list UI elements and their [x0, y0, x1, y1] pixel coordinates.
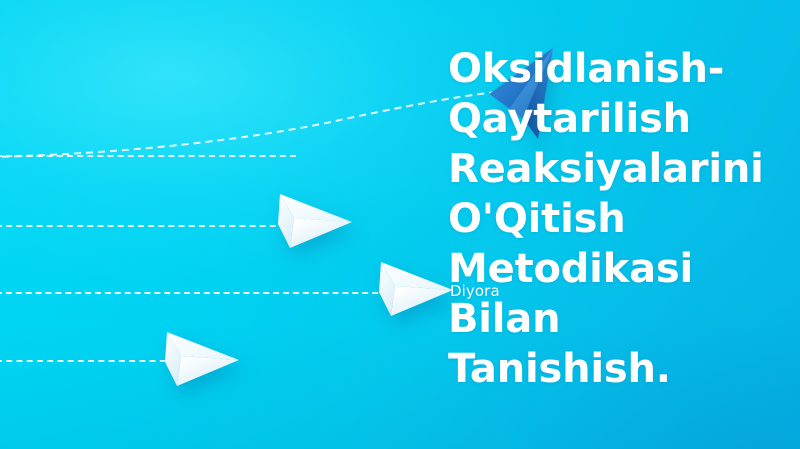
title-line-1: Oksidlanish- [448, 44, 778, 94]
title-line-2: Qaytarilish [448, 94, 778, 144]
title-line-5: Metodikasi [448, 244, 778, 294]
presentation-slide: Diyora Oksidlanish- Qaytarilish Reaksiya… [0, 0, 800, 449]
title-line-7: Tanishish. [448, 344, 778, 394]
title-line-3: Reaksiyalarini [448, 144, 778, 194]
slide-title: Oksidlanish- Qaytarilish Reaksiyalarini … [448, 44, 778, 394]
title-line-4: O'Qitish [448, 194, 778, 244]
title-line-6: Bilan [448, 294, 778, 344]
